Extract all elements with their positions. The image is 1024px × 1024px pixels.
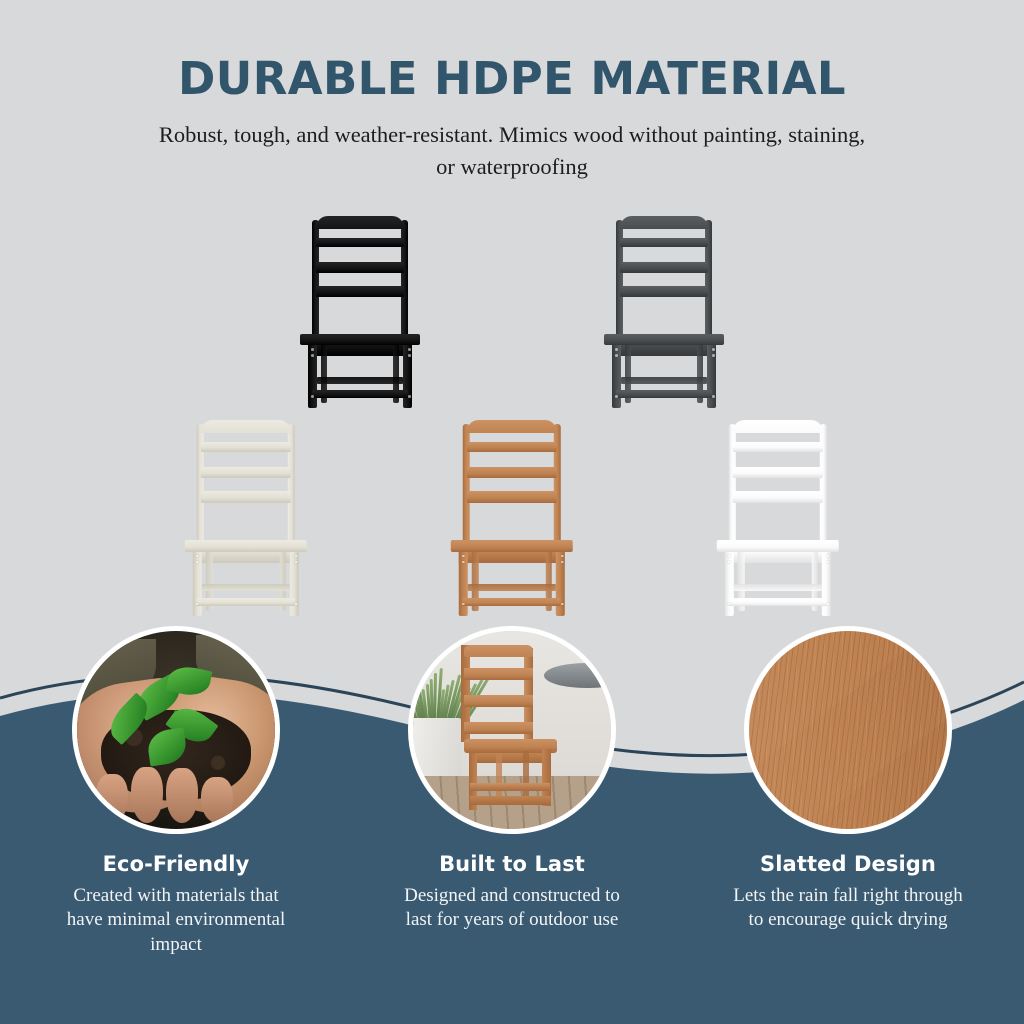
chair-screw-6 <box>408 395 411 398</box>
chair-swatch-ivory[interactable] <box>148 418 344 623</box>
chair-screw-1 <box>728 555 731 558</box>
chair-on-deck-image <box>413 631 611 829</box>
chair-back-slat-2 <box>733 467 823 478</box>
chair-screw-3 <box>408 348 411 351</box>
page-title: DURABLE HDPE MATERIAL <box>0 55 1024 102</box>
feature-description: Designed and constructed to last for yea… <box>364 884 660 933</box>
chair-screw-4 <box>295 561 298 564</box>
chair-colorway-grid <box>0 214 1024 623</box>
chair-screw-6 <box>561 603 564 606</box>
chair-stretcher-upper <box>734 584 822 591</box>
chair-screw-2 <box>615 354 618 357</box>
chair-back-slat-3 <box>733 491 823 502</box>
chair-back-slat-1 <box>316 238 404 247</box>
feature-image-slatted-design <box>744 626 952 834</box>
feature-slatted-design: Slatted Design Lets the rain fall right … <box>700 626 996 957</box>
chair-screw-1 <box>615 348 618 351</box>
chair-seat <box>185 540 307 551</box>
chair-screw-6 <box>827 603 830 606</box>
chair-crest-rail <box>316 216 404 229</box>
chair-screw-1 <box>311 348 314 351</box>
feature-title: Slatted Design <box>700 852 996 876</box>
chair-screw-3 <box>295 555 298 558</box>
chair-crest-rail <box>201 420 291 433</box>
chair-stretcher-upper <box>317 377 403 384</box>
chair-screw-5 <box>196 603 199 606</box>
chair-stretcher-lower <box>463 598 561 606</box>
chair-back-slat-1 <box>201 442 291 451</box>
chair-stretcher-upper <box>468 584 556 591</box>
chair-illustration <box>298 214 422 410</box>
chair-stretcher-lower <box>197 598 295 606</box>
chair-screw-2 <box>462 561 465 564</box>
chair-screw-3 <box>561 555 564 558</box>
chair-illustration <box>602 214 726 410</box>
feature-image-eco-friendly <box>72 626 280 834</box>
chair-screw-4 <box>712 354 715 357</box>
chair-screw-2 <box>311 354 314 357</box>
deck-chair-slat-3 <box>464 722 533 734</box>
chair-screw-5 <box>462 603 465 606</box>
chair-illustration <box>183 418 309 618</box>
feature-description: Created with materials that have minimal… <box>28 884 324 957</box>
chair-back-slat-3 <box>316 286 404 297</box>
chair-illustration <box>715 418 841 618</box>
chair-stretcher-upper <box>621 377 707 384</box>
deck-chair-slat-1 <box>464 668 533 680</box>
chair-back-slat-1 <box>733 442 823 451</box>
feature-title: Eco-Friendly <box>28 852 324 876</box>
deck-chair-stretcher-lower <box>470 796 551 804</box>
header: DURABLE HDPE MATERIAL Robust, tough, and… <box>0 0 1024 183</box>
chair-seat <box>451 540 573 551</box>
chair-stretcher-lower <box>729 598 827 606</box>
feature-image-built-to-last <box>408 626 616 834</box>
chair-swatch-dark-gray[interactable] <box>566 214 762 414</box>
chair-seat <box>717 540 839 551</box>
chair-screw-4 <box>408 354 411 357</box>
deck-chair-crest <box>464 645 533 657</box>
chair-seat <box>300 334 420 345</box>
deck-chair-slat-2 <box>464 695 533 707</box>
chair-back-slat-3 <box>620 286 708 297</box>
chair-screw-4 <box>561 561 564 564</box>
chair-back-slat-2 <box>316 262 404 273</box>
chair-stretcher-lower <box>616 390 712 398</box>
chair-stretcher-upper <box>202 584 290 591</box>
chair-swatch-black[interactable] <box>262 214 458 414</box>
chair-row-top <box>0 214 1024 414</box>
chair-seat <box>604 334 724 345</box>
chair-screw-1 <box>462 555 465 558</box>
chair-stretcher-lower <box>312 390 408 398</box>
feature-built-to-last: Built to Last Designed and constructed t… <box>364 626 660 957</box>
chair-crest-rail <box>467 420 557 433</box>
chair-screw-6 <box>295 603 298 606</box>
chair-screw-6 <box>712 395 715 398</box>
chair-row-bottom <box>0 418 1024 623</box>
chair-screw-5 <box>311 395 314 398</box>
deck-chair-leg-back-right <box>523 751 529 801</box>
slat-closeup-image <box>749 631 947 829</box>
chair-back-slat-3 <box>201 491 291 502</box>
chair-illustration <box>449 418 575 618</box>
infographic-root: DURABLE HDPE MATERIAL Robust, tough, and… <box>0 0 1024 1024</box>
chair-swatch-teak[interactable] <box>414 418 610 623</box>
deck-chair-apron <box>469 753 550 763</box>
chair-screw-3 <box>712 348 715 351</box>
feature-eco-friendly: Eco-Friendly Created with materials that… <box>28 626 324 957</box>
feature-title: Built to Last <box>364 852 660 876</box>
chair-crest-rail <box>620 216 708 229</box>
chair-screw-3 <box>827 555 830 558</box>
feature-section: Eco-Friendly Created with materials that… <box>0 626 1024 957</box>
feature-description: Lets the rain fall right through to enco… <box>700 884 996 933</box>
chair-screw-5 <box>615 395 618 398</box>
chair-back-slat-2 <box>467 467 557 478</box>
page-subtitle: Robust, tough, and weather-resistant. Mi… <box>152 119 872 183</box>
chair-screw-1 <box>196 555 199 558</box>
feature-row: Eco-Friendly Created with materials that… <box>0 626 1024 957</box>
seedling-in-hands-image <box>77 631 275 829</box>
chair-back-slat-2 <box>201 467 291 478</box>
chair-back-slat-2 <box>620 262 708 273</box>
chair-screw-2 <box>728 561 731 564</box>
chair-screw-2 <box>196 561 199 564</box>
chair-back-slat-1 <box>467 442 557 451</box>
chair-screw-4 <box>827 561 830 564</box>
chair-crest-rail <box>733 420 823 433</box>
chair-back-slat-1 <box>620 238 708 247</box>
chair-back-slat-3 <box>467 491 557 502</box>
deck-chair-stretcher-upper <box>470 783 550 791</box>
chair-swatch-white[interactable] <box>680 418 876 623</box>
chair-screw-5 <box>728 603 731 606</box>
